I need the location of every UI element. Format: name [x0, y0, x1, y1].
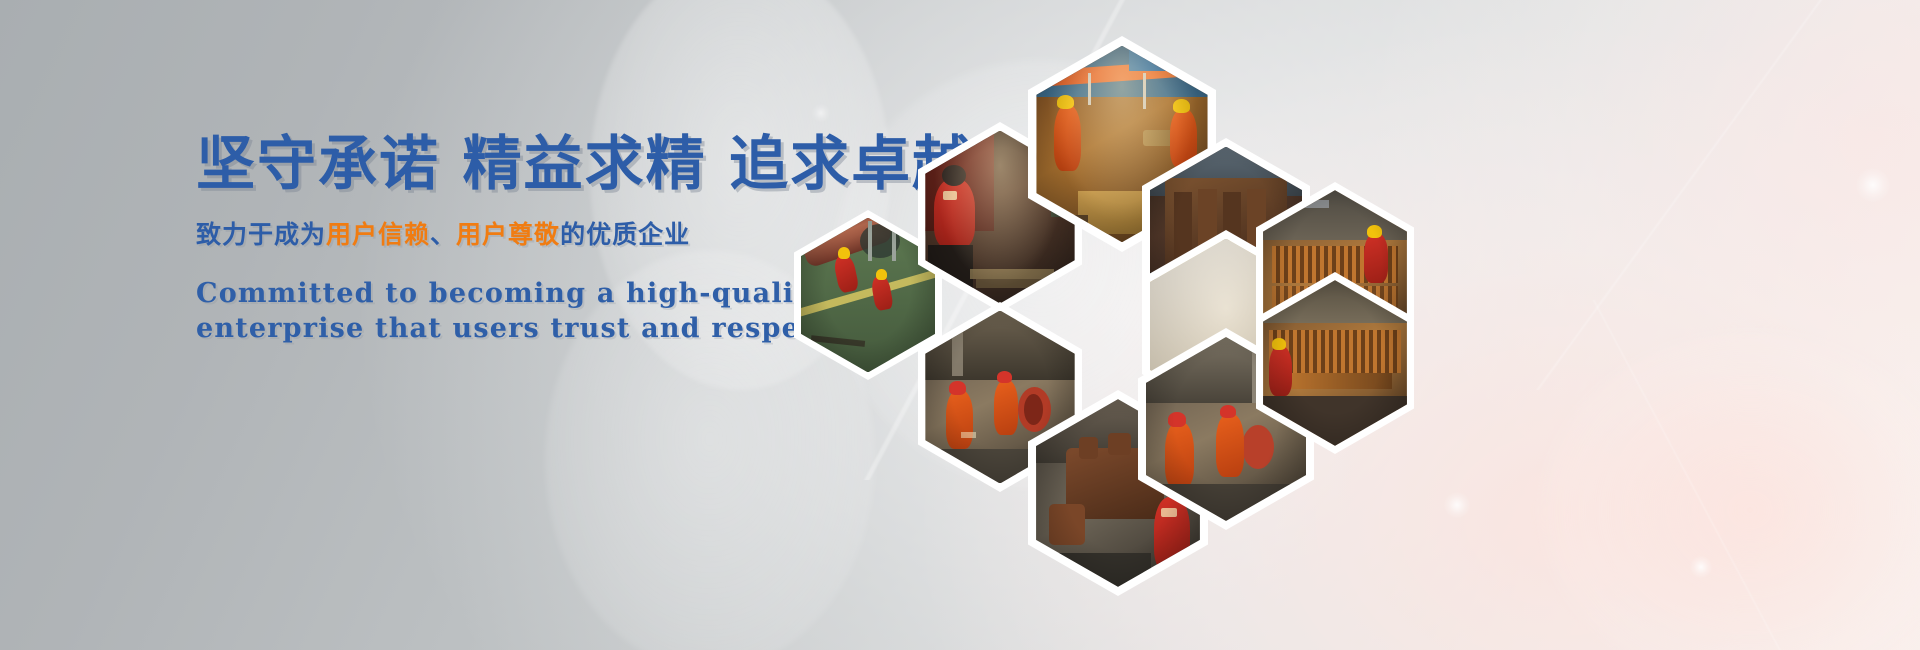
hexagon-photo-cluster — [770, 50, 1450, 520]
subtitle-part-1: 致力于成为 — [196, 220, 326, 249]
subtitle-separator: 、 — [430, 220, 456, 249]
sparkle-bottom-right — [1690, 556, 1712, 578]
subtitle-highlight-2: 用户尊敬 — [456, 220, 560, 249]
company-banner: 坚守承诺 精益求精 追求卓越 致力于成为用户信赖、用户尊敬的优质企业 Commi… — [0, 0, 1920, 650]
light-streak-top-right — [1430, 0, 1920, 390]
light-streak-bottom-right — [1480, 300, 1920, 650]
sparkle-top-right — [1856, 168, 1890, 202]
subtitle-part-2: 的优质企业 — [560, 220, 690, 249]
watermark-glow-right — [1540, 330, 1920, 650]
subtitle-highlight-1: 用户信赖 — [326, 220, 430, 249]
